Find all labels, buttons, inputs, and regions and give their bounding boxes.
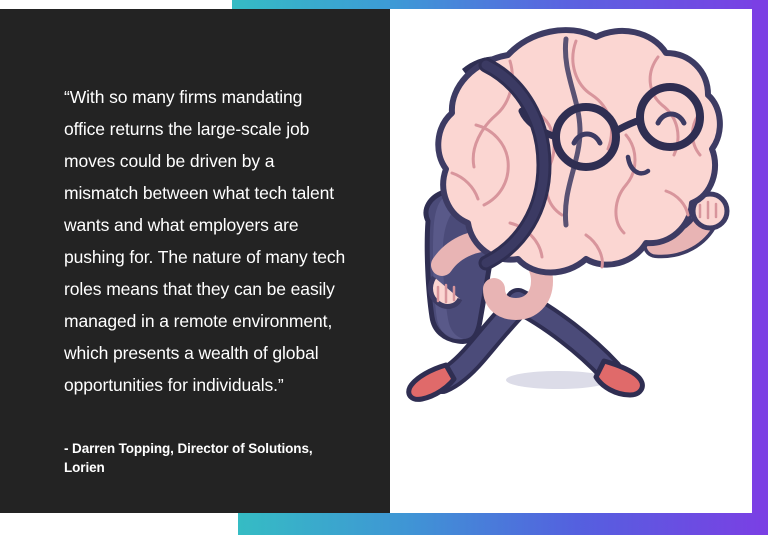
illustration-card [390, 9, 744, 513]
top-gradient-bar [232, 0, 768, 9]
quote-panel: “With so many firms mandating office ret… [0, 9, 390, 513]
running-brain-icon [390, 9, 744, 513]
quote-text: “With so many firms mandating office ret… [64, 81, 346, 401]
bottom-gradient-bar [238, 513, 768, 535]
right-accent-bar [752, 0, 768, 535]
right-accent-inset [744, 9, 752, 513]
quote-attribution: - Darren Topping, Director of Solutions,… [64, 439, 346, 477]
ground-shadow-icon [506, 371, 610, 389]
slide-canvas: “With so many firms mandating office ret… [0, 0, 768, 535]
